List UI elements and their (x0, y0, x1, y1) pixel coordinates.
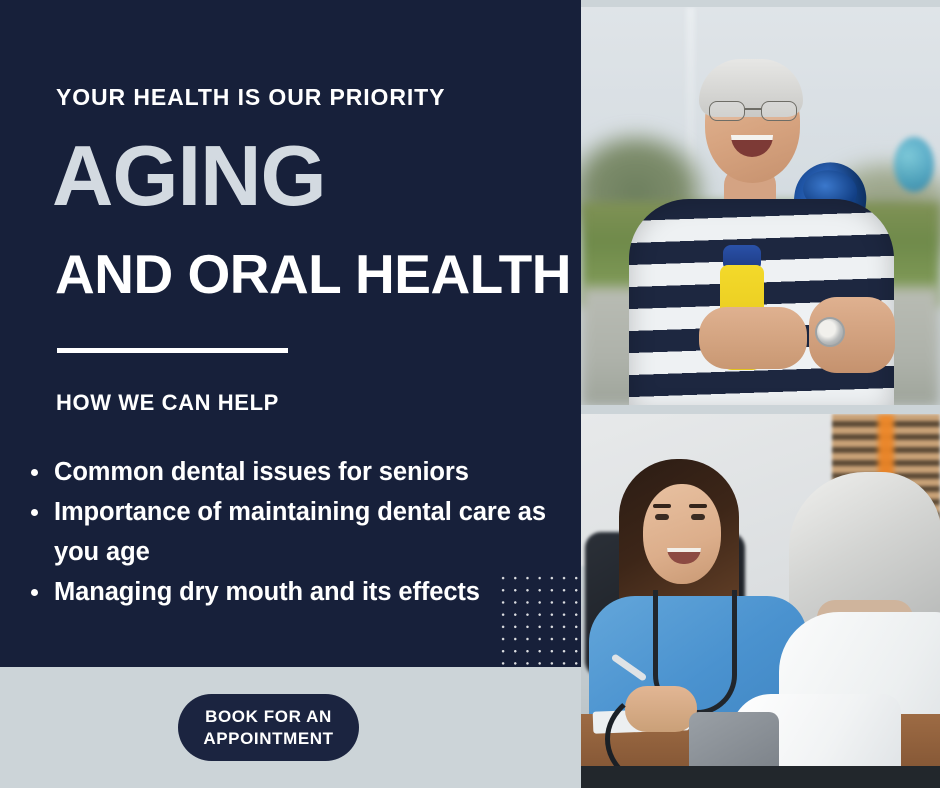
photo-nurse-eye-left (655, 514, 669, 520)
photo-nurse-brow-right (689, 504, 707, 508)
benefits-list: Common dental issues for seniors Importa… (22, 452, 567, 612)
title-divider (57, 348, 288, 353)
photo-desk-edge (581, 766, 940, 788)
section-label: HOW WE CAN HELP (56, 392, 279, 414)
photo-senior-woman-yoga (581, 7, 940, 405)
list-item: Managing dry mouth and its effects (22, 572, 567, 612)
eyebrow-text: YOUR HEALTH IS OUR PRIORITY (56, 86, 445, 109)
photo-nurse-eye-right (691, 514, 705, 520)
photo-wristwatch (815, 317, 845, 347)
photo-column (581, 0, 940, 788)
cta-line-1: BOOK FOR AN (205, 706, 332, 728)
poster-root: YOUR HEALTH IS OUR PRIORITY AGING AND OR… (0, 0, 940, 788)
photo-woman-glasses (707, 101, 799, 119)
photo-nurse-face (643, 484, 721, 584)
photo-nurse-brow-left (653, 504, 671, 508)
list-item: Importance of maintaining dental care as… (22, 492, 567, 572)
book-appointment-button[interactable]: BOOK FOR AN APPOINTMENT (178, 694, 359, 761)
photo-woman-hands (699, 307, 807, 369)
page-title-primary: AGING (52, 134, 326, 219)
list-item: Common dental issues for seniors (22, 452, 567, 492)
page-title-secondary: AND ORAL HEALTH (55, 247, 571, 302)
navy-content-panel: YOUR HEALTH IS OUR PRIORITY AGING AND OR… (0, 0, 581, 667)
photo-balloon (894, 137, 934, 192)
cta-line-2: APPOINTMENT (203, 728, 333, 750)
photo-nurse-patient-blood-pressure (581, 414, 940, 788)
